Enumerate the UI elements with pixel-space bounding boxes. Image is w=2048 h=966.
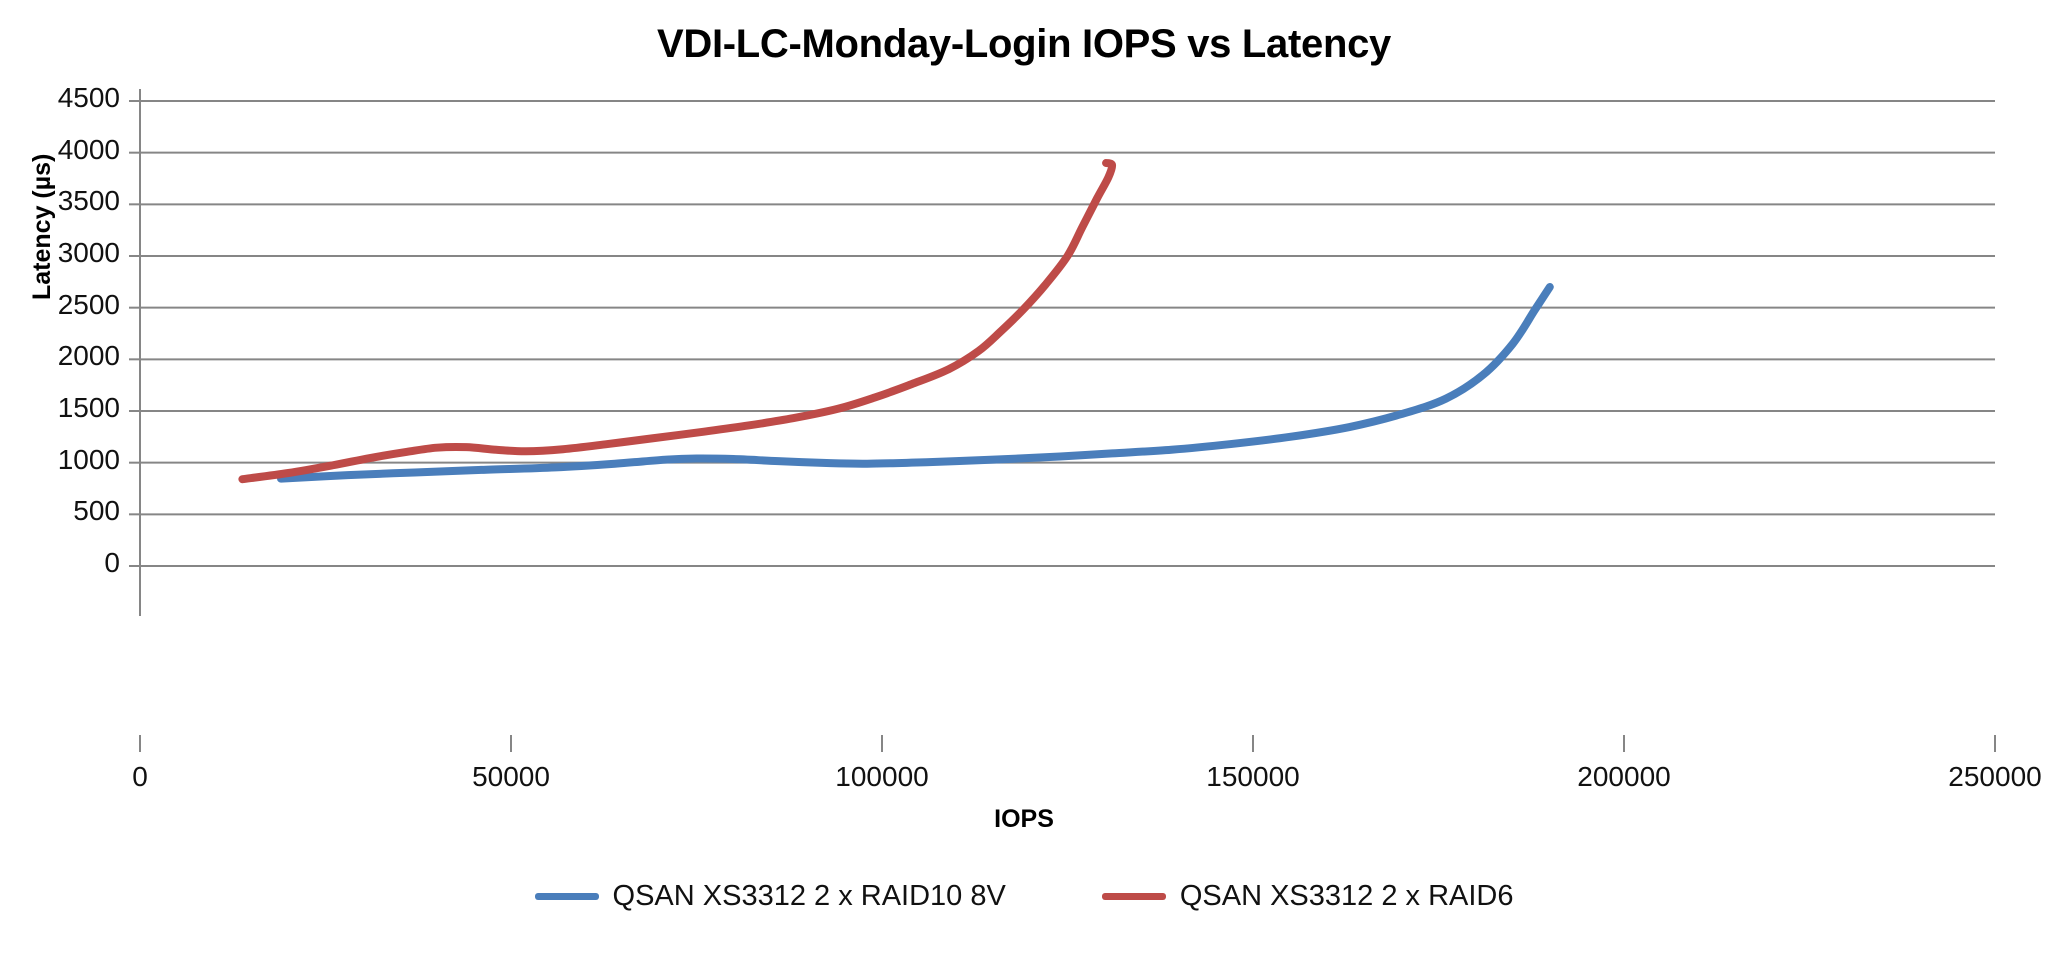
x-tick-label: 200000: [1524, 761, 1724, 793]
x-tick-label: 150000: [1153, 761, 1353, 793]
y-tick-label: 2000: [58, 340, 120, 372]
plot-area: [0, 0, 2048, 966]
x-tick-label: 100000: [782, 761, 982, 793]
series-line-2: [242, 163, 1112, 479]
legend-label: QSAN XS3312 2 x RAID6: [1180, 880, 1514, 913]
y-tick-label: 1500: [58, 392, 120, 424]
x-tick-label: 0: [40, 761, 240, 793]
legend-item[interactable]: QSAN XS3312 2 x RAID6: [1102, 880, 1514, 913]
chart-legend: QSAN XS3312 2 x RAID10 8VQSAN XS3312 2 x…: [0, 880, 2048, 913]
x-tick-label: 250000: [1895, 761, 2048, 793]
y-tick-label: 4000: [58, 134, 120, 166]
x-tick-label: 50000: [411, 761, 611, 793]
y-tick-label: 4500: [58, 82, 120, 114]
y-tick-label: 2500: [58, 289, 120, 321]
y-tick-label: 3500: [58, 185, 120, 217]
y-tick-label: 0: [104, 547, 120, 579]
y-tick-label: 500: [73, 495, 120, 527]
legend-color-swatch: [535, 893, 599, 900]
legend-item[interactable]: QSAN XS3312 2 x RAID10 8V: [535, 880, 1006, 913]
y-tick-label: 3000: [58, 237, 120, 269]
legend-color-swatch: [1102, 893, 1166, 900]
chart-container: VDI-LC-Monday-Login IOPS vs Latency Late…: [0, 0, 2048, 966]
legend-label: QSAN XS3312 2 x RAID10 8V: [613, 880, 1006, 913]
y-tick-label: 1000: [58, 444, 120, 476]
